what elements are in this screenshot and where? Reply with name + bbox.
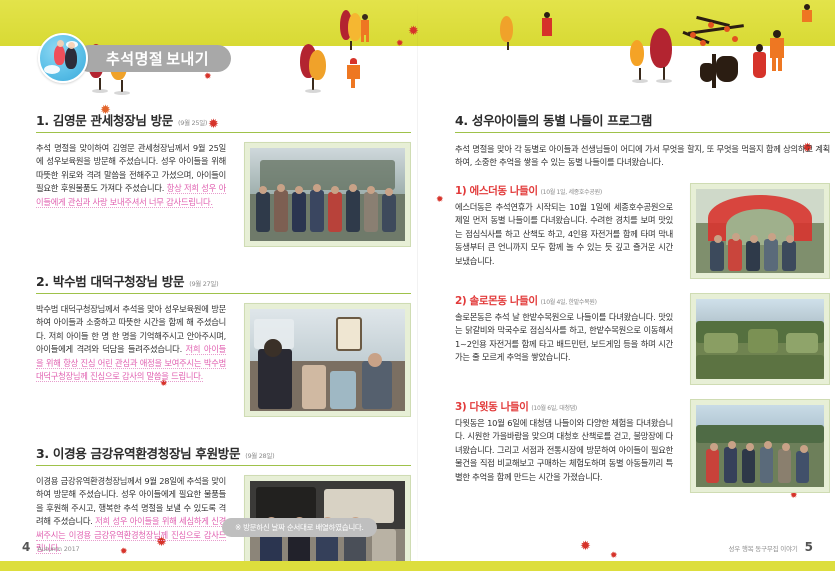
article-1-date: (9월 25일) (178, 117, 207, 127)
section-header: 추석명절 보내기 (38, 33, 231, 83)
magazine-spread: ✹ ✹ ✹ ✹ ✹ ✹ ✹ ✹ ✹ ✹ ✹ ✹ ✹ ✹ 추석명절 보내기 1. … (0, 0, 835, 571)
scarecrow-illustration (345, 56, 363, 88)
subsection-1: 1) 에스더동 나들이 (10월 1일, 세종호수공원) 에스더동은 추석연휴가… (455, 183, 830, 279)
autumn-tree-illustration (650, 28, 678, 80)
subsection-3-date: (10월 6일, 대청댐) (531, 403, 577, 412)
right-page-number: 5 (805, 540, 813, 554)
bottom-decorative-band (0, 561, 835, 571)
subsection-2: 2) 솔로몬동 나들이 (10월 4일, 한밭수목원) 솔로몬동은 추석 날 한… (455, 293, 830, 385)
article-2: 2. 박수범 대덕구청장님 방문 (9월 27일) 박수 (36, 271, 411, 417)
article-3-title: 3. 이경용 금강유역환경청장님 후원방문 (36, 443, 240, 462)
subsection-1-title: 1) 에스더동 나들이 (455, 183, 538, 198)
article-1-body: 추석 명절을 맞이하여 김영문 관세청장님께서 9월 25일에 성우보육원을 방… (36, 142, 226, 209)
person-illustration (358, 14, 372, 42)
page-spine (417, 0, 418, 571)
article-4-title: 4. 성우아이들의 동별 나들이 프로그램 (455, 110, 652, 129)
section-title-banner: 추석명절 보내기 (76, 45, 231, 72)
section-title-primary: 추석명절 (106, 48, 163, 69)
subsection-3-title: 3) 다윗동 나들이 (455, 399, 528, 414)
pottery-jars-illustration (700, 52, 740, 82)
person-picking-illustration (768, 30, 786, 74)
article-2-date: (9월 27일) (189, 278, 218, 288)
maple-leaf-icon: ✹ (610, 552, 618, 561)
right-page-footer: 성우 행복 동구무집 이야기 5 (728, 540, 813, 554)
subsection-1-photo (696, 189, 824, 273)
article-1-photo (250, 148, 405, 241)
arrangement-note: ※ 방문하신 날짜 순서대로 배열하였습니다. (222, 518, 377, 537)
article-1-heading: 1. 김영문 관세청장님 방문 (9월 25일) (36, 110, 411, 133)
subsection-3-photo (696, 405, 824, 487)
subsection-2-photo (696, 299, 824, 379)
maple-leaf-icon: ✹ (580, 540, 591, 553)
article-1-title: 1. 김영문 관세청장님 방문 (36, 110, 173, 129)
article-2-photo (250, 309, 405, 411)
autumn-tree-illustration (300, 44, 326, 90)
article-1: 1. 김영문 관세청장님 방문 (9월 25일) (36, 110, 411, 247)
person-reaching-illustration (752, 44, 768, 80)
subsection-2-body: 솔로몬동은 추석 날 한밭수목원으로 나들이를 다녀왔습니다. 맛있는 닭갈비와… (455, 311, 673, 365)
article-4-heading: 4. 성우아이들의 동별 나들이 프로그램 (455, 110, 830, 133)
article-4-intro: 추석 명절을 맞아 각 동별로 아이들과 선생님들이 어디에 가서 무엇을 할지… (455, 143, 830, 170)
left-page-footer-text: Autumn 2017 (37, 545, 79, 553)
article-2-photo-frame (244, 303, 411, 417)
subsection-2-heading: 2) 솔로몬동 나들이 (10월 4일, 한밭수목원) (455, 293, 680, 308)
subsection-3-body: 다윗동은 10월 6일에 대청댐 나들이와 다양한 체험을 다녀왔습니다. 시원… (455, 417, 673, 484)
globe-children-icon (38, 33, 88, 83)
article-3-heading: 3. 이경용 금강유역환경청장님 후원방문 (9월 28일) (36, 443, 411, 466)
right-page-column: 4. 성우아이들의 동별 나들이 프로그램 추석 명절을 맞아 각 동별로 아이… (455, 110, 830, 507)
article-3: 3. 이경용 금강유역환경청장님 후원방문 (9월 28일) (36, 443, 411, 571)
autumn-tree-illustration (500, 16, 516, 50)
article-2-body: 박수범 대덕구청장님께서 추석을 맞아 성우보육원에 방문하여 아이들과 소중하… (36, 303, 226, 384)
left-page-number: 4 (22, 540, 30, 554)
left-page-column: 1. 김영문 관세청장님 방문 (9월 25일) (36, 110, 411, 571)
article-2-title: 2. 박수범 대덕구청장님 방문 (36, 271, 184, 290)
subsection-2-photo-frame (690, 293, 830, 385)
maple-leaf-icon: ✹ (396, 40, 404, 49)
article-2-heading: 2. 박수범 대덕구청장님 방문 (9월 27일) (36, 271, 411, 294)
subsection-3-heading: 3) 다윗동 나들이 (10월 6일, 대청댐) (455, 399, 680, 414)
subsection-2-date: (10월 4일, 한밭수목원) (541, 297, 597, 306)
subsection-1-heading: 1) 에스더동 나들이 (10월 1일, 세종호수공원) (455, 183, 680, 198)
subsection-1-date: (10월 1일, 세종호수공원) (541, 187, 602, 196)
subsection-1-photo-frame (690, 183, 830, 279)
person-illustration (540, 12, 554, 42)
section-title-secondary: 보내기 (166, 48, 209, 69)
person-on-band-illustration (800, 4, 814, 30)
article-3-date: (9월 28일) (245, 450, 274, 460)
subsection-3: 3) 다윗동 나들이 (10월 6일, 대청댐) 다윗동은 10월 6일에 대청… (455, 399, 830, 493)
article-1-photo-frame (244, 142, 411, 247)
autumn-tree-illustration (630, 40, 650, 80)
subsection-2-title: 2) 솔로몬동 나들이 (455, 293, 538, 308)
subsection-3-photo-frame (690, 399, 830, 493)
subsection-1-body: 에스더동은 추석연휴가 시작되는 10월 1일에 세종호수공원으로 제일 먼저 … (455, 201, 673, 268)
left-page-footer: 4 Autumn 2017 (22, 540, 79, 554)
right-page-footer-text: 성우 행복 동구무집 이야기 (728, 543, 797, 553)
maple-leaf-icon: ✹ (436, 196, 444, 205)
